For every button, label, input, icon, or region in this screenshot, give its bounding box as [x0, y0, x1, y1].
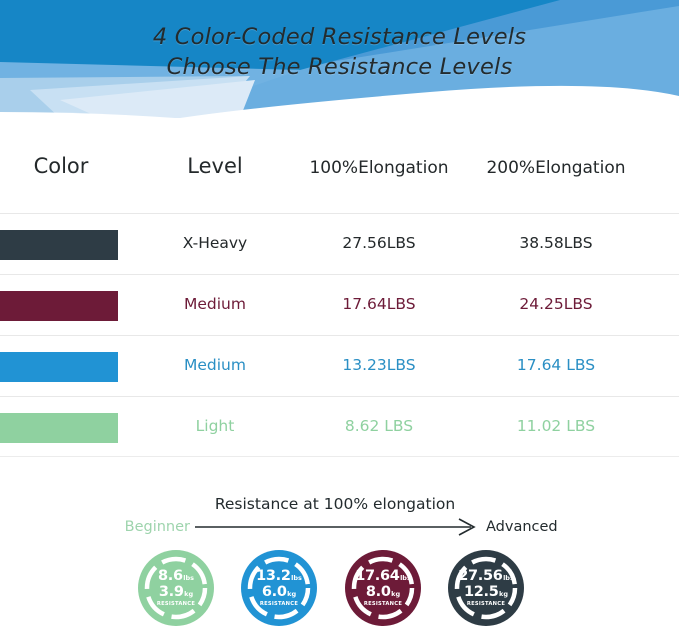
cell-level: Medium: [155, 295, 275, 313]
cell-level: X-Heavy: [155, 234, 275, 252]
table-row: X-Heavy 27.56LBS 38.58LBS: [0, 213, 679, 274]
column-header-elongation-100: 100%Elongation: [293, 158, 465, 178]
color-swatch: [0, 230, 118, 260]
table-row: Medium 17.64LBS 24.25LBS: [0, 274, 679, 335]
column-header-elongation-200: 200%Elongation: [470, 158, 642, 178]
cell-level: Medium: [155, 356, 275, 374]
gauge-x-heavy: 27.56 lbs 12.5 kg RESISTANCE: [448, 550, 524, 626]
scale-label-advanced: Advanced: [486, 519, 576, 535]
gauge-ring-icon: [138, 550, 214, 626]
color-swatch: [0, 352, 118, 382]
table-row: Light 8.62 LBS 11.02 LBS: [0, 396, 679, 457]
gauge-ring-icon: [345, 550, 421, 626]
gauge-ring-icon: [448, 550, 524, 626]
gauge-row: 8.6 lbs 3.9 kg RESISTANCE 13.2 lbs: [0, 550, 679, 633]
table-header-row: Color Level 100%Elongation 200%Elongatio…: [0, 118, 679, 213]
cell-elongation-100: 27.56LBS: [293, 234, 465, 252]
gauge-medium-red: 17.64 lbs 8.0 kg RESISTANCE: [345, 550, 421, 626]
column-header-color: Color: [0, 154, 122, 178]
table-row: Medium 13.23LBS 17.64 LBS: [0, 335, 679, 396]
banner-background-shapes: [0, 0, 679, 118]
resistance-scale: Resistance at 100% elongation Beginner A…: [0, 495, 679, 540]
color-swatch: [0, 413, 118, 443]
cell-elongation-100: 17.64LBS: [293, 295, 465, 313]
column-header-level: Level: [155, 154, 275, 178]
header-banner: 4 Color-Coded Resistance Levels Choose T…: [0, 0, 679, 118]
gauge-medium-blue: 13.2 lbs 6.0 kg RESISTANCE: [241, 550, 317, 626]
cell-elongation-200: 24.25LBS: [470, 295, 642, 313]
scale-caption: Resistance at 100% elongation: [195, 495, 475, 513]
scale-arrow-icon: [195, 517, 480, 537]
color-swatch: [0, 291, 118, 321]
cell-level: Light: [155, 417, 275, 435]
gauge-light: 8.6 lbs 3.9 kg RESISTANCE: [138, 550, 214, 626]
cell-elongation-200: 11.02 LBS: [470, 417, 642, 435]
infographic-page: 4 Color-Coded Resistance Levels Choose T…: [0, 0, 679, 633]
cell-elongation-100: 13.23LBS: [293, 356, 465, 374]
cell-elongation-200: 17.64 LBS: [470, 356, 642, 374]
cell-elongation-200: 38.58LBS: [470, 234, 642, 252]
gauge-ring-icon: [241, 550, 317, 626]
cell-elongation-100: 8.62 LBS: [293, 417, 465, 435]
resistance-table: Color Level 100%Elongation 200%Elongatio…: [0, 118, 679, 457]
scale-label-beginner: Beginner: [120, 519, 190, 535]
